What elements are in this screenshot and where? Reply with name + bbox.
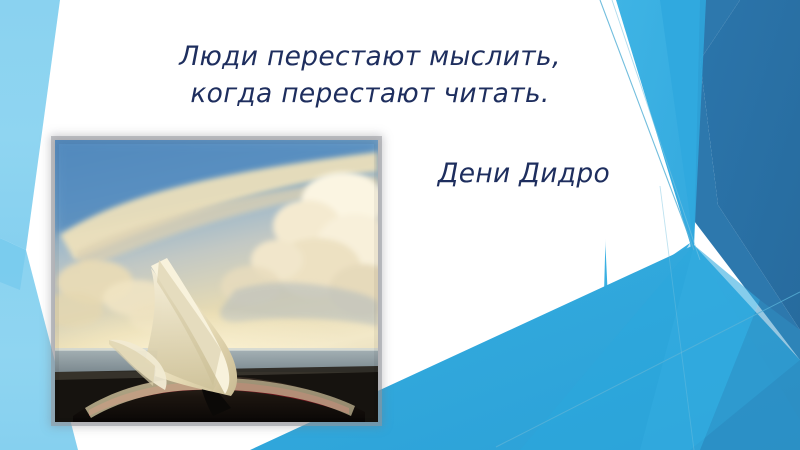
- presentation-slide: Люди перестают мыслить, когда перестают …: [0, 0, 800, 450]
- attribution-author: Дени Дидро: [120, 157, 610, 190]
- quote-line-2: когда перестают читать.: [120, 77, 620, 111]
- quote-text-block: Люди перестают мыслить, когда перестают …: [120, 40, 620, 111]
- quote-line-1: Люди перестают мыслить,: [120, 40, 620, 74]
- quote-attribution: Дени Дидро: [120, 157, 610, 190]
